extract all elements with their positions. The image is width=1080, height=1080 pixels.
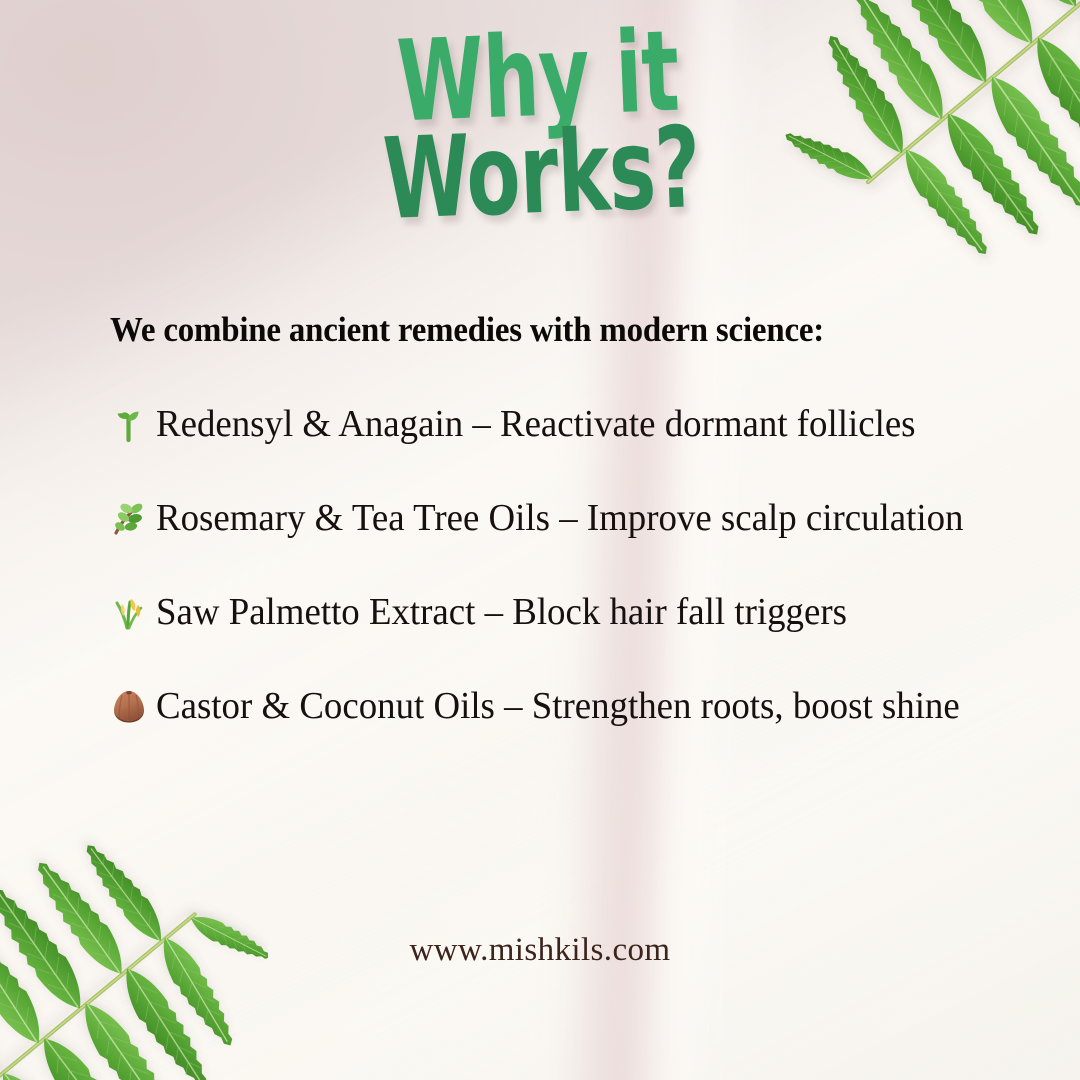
list-item-label: Rosemary & Tea Tree Oils – Improve scalp… [156, 496, 963, 540]
benefits-list: Redensyl & Anagain – Reactivate dormant … [108, 400, 1028, 776]
chestnut-icon [108, 685, 150, 727]
herb-sprig-icon [108, 497, 150, 539]
rice-plant-icon [108, 591, 150, 633]
list-item: Redensyl & Anagain – Reactivate dormant … [108, 400, 1028, 448]
list-item-label: Saw Palmetto Extract – Block hair fall t… [156, 590, 847, 634]
list-item: Castor & Coconut Oils – Strengthen roots… [108, 682, 1028, 730]
subtitle: We combine ancient remedies with modern … [110, 310, 824, 350]
poster-canvas: Why it Works? We combine ancient remedie… [0, 0, 1080, 1080]
website-url[interactable]: www.mishkils.com [0, 932, 1080, 969]
list-item-label: Castor & Coconut Oils – Strengthen roots… [156, 684, 960, 728]
list-item: Rosemary & Tea Tree Oils – Improve scalp… [108, 494, 1028, 542]
list-item: Saw Palmetto Extract – Block hair fall t… [108, 588, 1028, 636]
seedling-icon [108, 403, 150, 445]
list-item-label: Redensyl & Anagain – Reactivate dormant … [156, 402, 916, 446]
